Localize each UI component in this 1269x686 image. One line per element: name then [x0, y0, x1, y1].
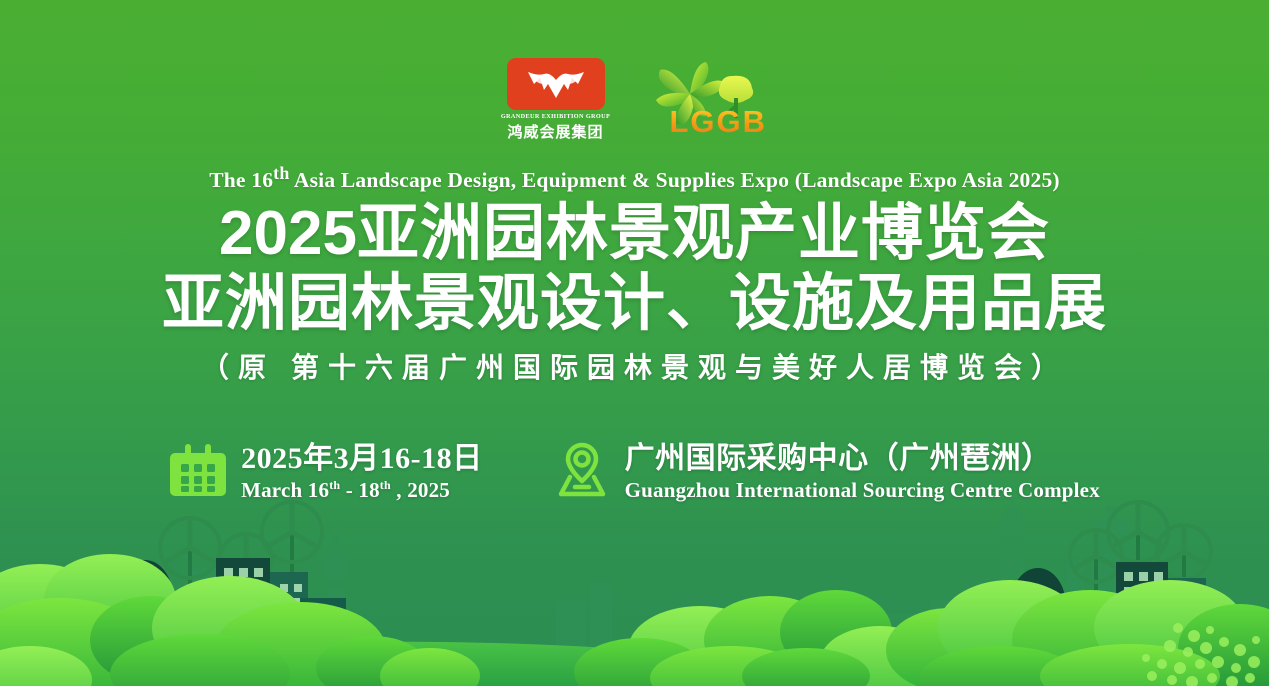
- logo-row: GRANDEUR EXHIBITION GROUP 鸿威会展集团: [0, 58, 1269, 142]
- skyline-silhouette-hk: [866, 498, 1048, 686]
- date-text: 2025年3月16-18日 March 16th - 18th , 2025: [241, 442, 483, 504]
- bush-dots: [1142, 623, 1260, 686]
- headline-block: The 16th Asia Landscape Design, Equipmen…: [0, 164, 1269, 386]
- venue-text: 广州国际采购中心（广州琶洲） Guangzhou International S…: [625, 442, 1100, 504]
- skyline-silhouette-right: [1040, 506, 1230, 686]
- grandeur-english-name: GRANDEUR EXHIBITION GROUP: [501, 113, 610, 120]
- title-year: 2025: [219, 199, 357, 268]
- map-pin-icon: [553, 441, 611, 504]
- grandeur-badge: [507, 58, 605, 110]
- exhibition-banner: GRANDEUR EXHIBITION GROUP 鸿威会展集团: [0, 0, 1269, 686]
- title-former-name: （原 第十六届广州国际园林景观与美好人居博览会）: [0, 352, 1269, 386]
- info-row: 2025年3月16-18日 March 16th - 18th , 2025 广…: [0, 441, 1269, 504]
- skyline-silhouette-center: [323, 520, 612, 686]
- date-english-mid: - 18: [340, 478, 380, 502]
- logo-grandeur-exhibition-group: GRANDEUR EXHIBITION GROUP 鸿威会展集团: [504, 58, 608, 142]
- building-group-left: [138, 558, 346, 686]
- subtitle-english-before: The 16: [209, 168, 273, 192]
- dark-tree-group-left: [117, 560, 192, 686]
- date-english: March 16th - 18th , 2025: [241, 478, 483, 503]
- wing-w-emblem-icon: [520, 64, 592, 104]
- tree-canopy-group-center: [574, 590, 940, 686]
- date-info: 2025年3月16-18日 March 16th - 18th , 2025: [169, 441, 483, 504]
- title-line-1: 2025亚洲园林景观产业博览会: [0, 199, 1269, 270]
- date-english-after: , 2025: [391, 478, 450, 502]
- grandeur-chinese-name: 鸿威会展集团: [507, 121, 603, 142]
- tree-canopy-group-left: [0, 554, 480, 686]
- ground: [0, 642, 1269, 686]
- lggb-wordmark: LGGB: [670, 104, 768, 140]
- logo-lggb: LGGB: [642, 58, 766, 142]
- date-english-ordinal-1: th: [329, 478, 340, 492]
- calendar-icon: [169, 441, 227, 504]
- skyline-silhouette-left: [120, 568, 260, 686]
- building-group-right: [1056, 562, 1206, 686]
- wind-turbine-group-left: [160, 502, 322, 646]
- wind-turbine-group-right: [1070, 502, 1211, 652]
- title-line-1-chinese: 亚洲园林景观产业博览会: [357, 199, 1050, 268]
- tree-canopy-group-right: [886, 580, 1269, 686]
- date-english-before: March 16: [241, 478, 329, 502]
- venue-info: 广州国际采购中心（广州琶洲） Guangzhou International S…: [553, 441, 1100, 504]
- title-line-2: 亚洲园林景观设计、设施及用品展: [0, 269, 1269, 340]
- subtitle-english-after: Asia Landscape Design, Equipment & Suppl…: [289, 168, 1059, 192]
- subtitle-english: The 16th Asia Landscape Design, Equipmen…: [0, 164, 1269, 193]
- venue-english: Guangzhou International Sourcing Centre …: [625, 478, 1100, 503]
- subtitle-english-ordinal: th: [273, 163, 289, 183]
- date-english-ordinal-2: th: [380, 478, 391, 492]
- venue-chinese: 广州国际采购中心（广州琶洲）: [625, 442, 1100, 477]
- dark-tree-group-right: [989, 568, 1088, 686]
- skyline-silhouette-far-right: [52, 612, 930, 686]
- date-chinese: 2025年3月16-18日: [241, 442, 483, 477]
